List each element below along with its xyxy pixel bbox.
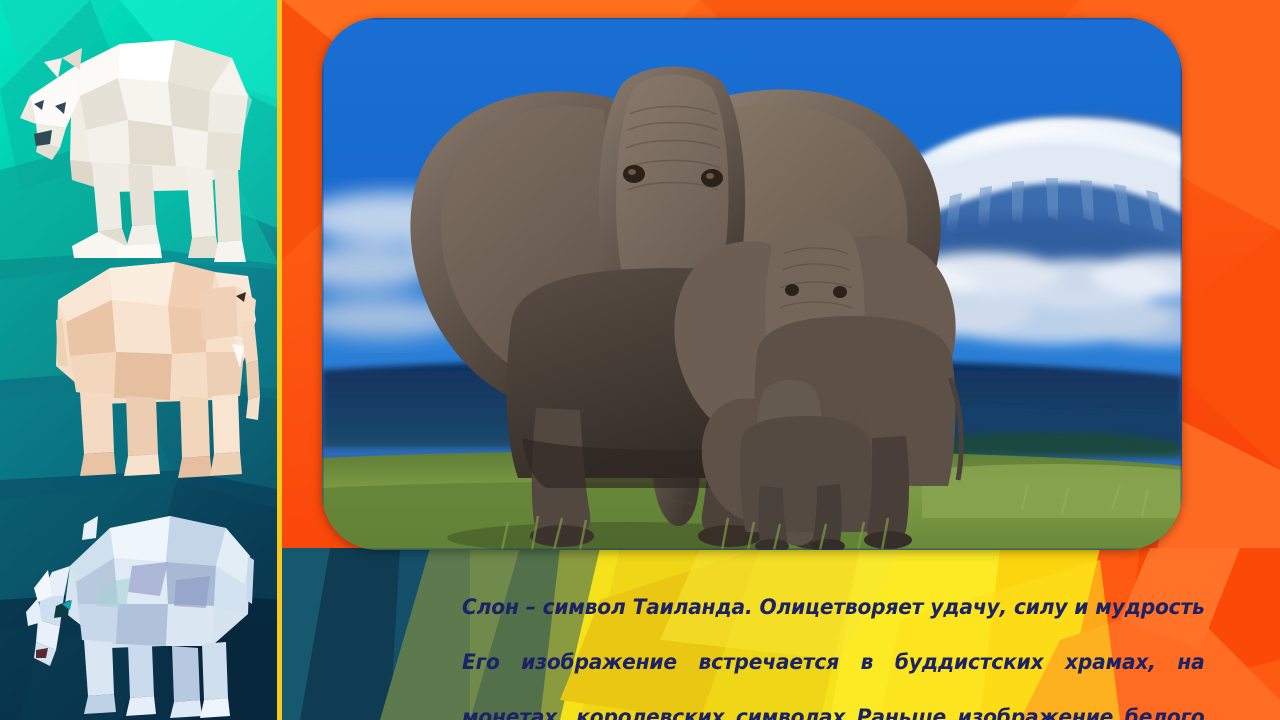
presentation-slide: Слон – символ Таиланда. Олицетворяет уда… (0, 0, 1280, 720)
caption-line-1: Слон – символ Таиланда. Олицетворяет уда… (462, 594, 1205, 622)
caption-line-3: монетах, королевских символах Раньше изо… (462, 704, 1205, 720)
sidebar (0, 0, 282, 720)
sidebar-divider (277, 0, 282, 720)
elephant-family-kilimanjaro-photo (322, 18, 1182, 550)
caption-line-2: Его изображение встречается в буддистски… (462, 649, 1205, 677)
sidebar-lowpoly-background (0, 0, 282, 720)
photo-scene (322, 18, 1182, 550)
slide-caption: Слон – символ Таиланда. Олицетворяет уда… (462, 566, 1205, 720)
